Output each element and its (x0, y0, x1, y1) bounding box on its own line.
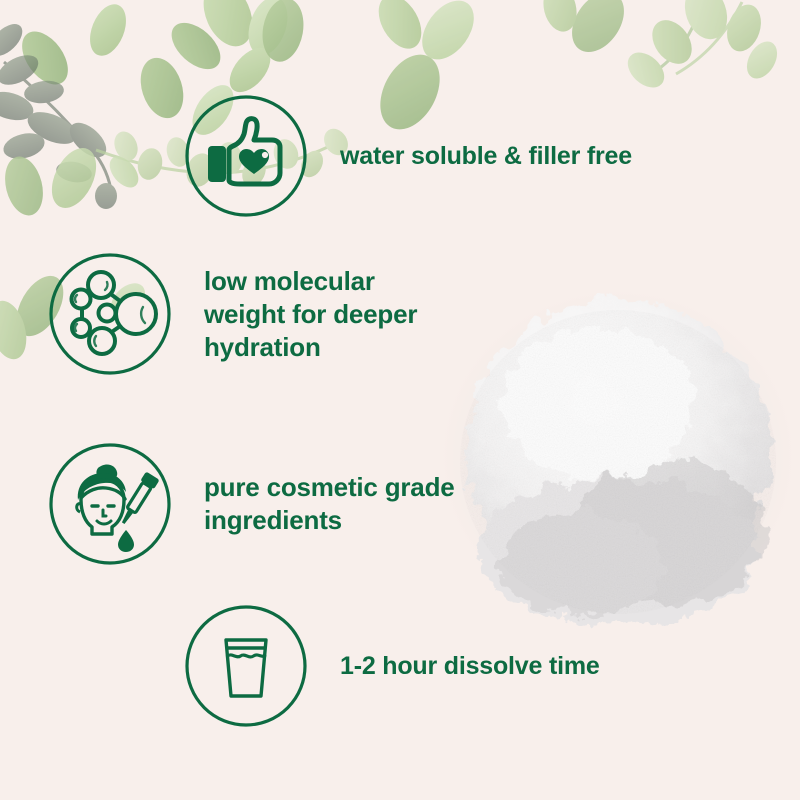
feature-label: 1-2 hour dissolve time (340, 650, 600, 683)
feature-row-cosmetic-grade: pure cosmetic grade ingredients (48, 442, 455, 566)
powder-pile (432, 252, 800, 634)
molecule-icon (48, 252, 172, 376)
water-glass-icon (184, 604, 308, 728)
feature-row-dissolve-time: 1-2 hour dissolve time (184, 604, 600, 728)
feature-label: low molecular weight for deeper hydratio… (204, 265, 417, 364)
product-feature-infographic: water soluble & filler free (0, 0, 800, 800)
feature-row-water-soluble: water soluble & filler free (184, 94, 632, 218)
feature-label: pure cosmetic grade ingredients (204, 471, 455, 537)
feature-row-low-molecular-weight: low molecular weight for deeper hydratio… (48, 252, 417, 376)
thumbs-up-heart-icon (184, 94, 308, 218)
face-dropper-icon (48, 442, 172, 566)
feature-label: water soluble & filler free (340, 140, 632, 173)
